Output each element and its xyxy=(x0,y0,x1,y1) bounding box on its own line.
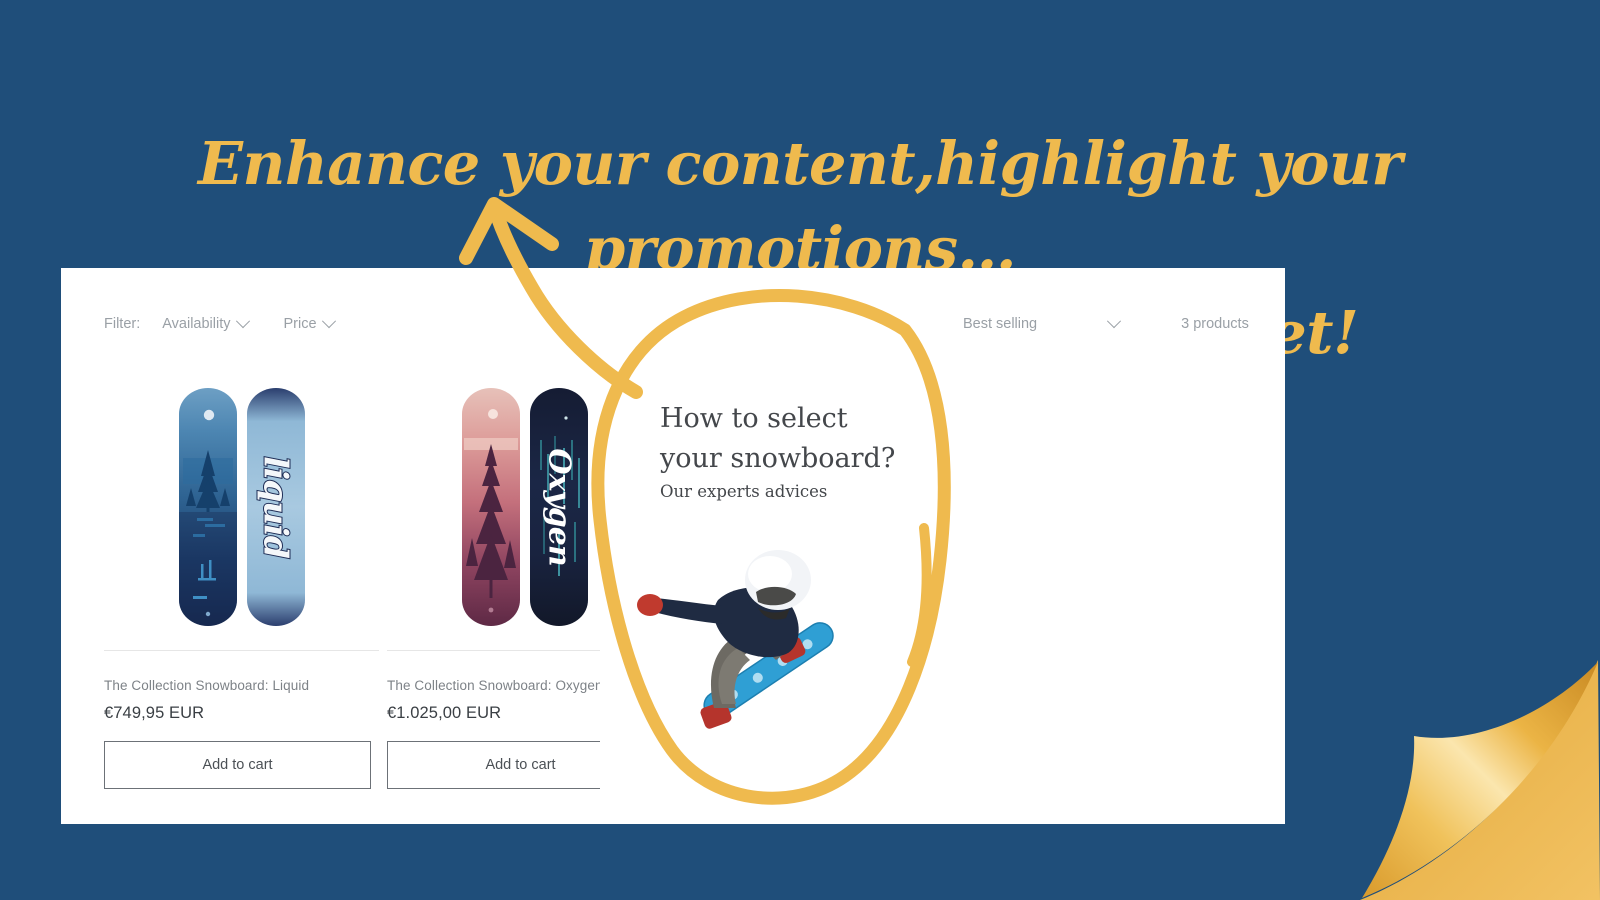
filter-availability-label: Availability xyxy=(162,316,230,332)
popup-heading: How to select your snowboard? xyxy=(660,399,940,479)
filter-price-label: Price xyxy=(284,316,317,332)
sort-by-select[interactable]: Best selling xyxy=(963,316,1119,332)
product-title[interactable]: The Collection Snowboard: Liquid xyxy=(104,678,379,693)
snowboard-art-logo-liquid: liquid xyxy=(247,388,305,626)
product-card-liquid: liquid The Collection Snowboard: Liquid … xyxy=(104,378,379,808)
chevron-down-icon xyxy=(321,314,335,328)
add-to-cart-button[interactable]: Add to cart xyxy=(104,741,371,789)
board-graphic xyxy=(462,388,520,626)
snowboard-wordmark-liquid: liquid xyxy=(256,456,295,558)
filter-group: Filter: Availability Price xyxy=(104,316,334,332)
popup-subheading: Our experts advices xyxy=(660,482,827,501)
headline-line-1: Enhance your content,highlight your prom… xyxy=(198,129,1402,282)
snowboarder-photo xyxy=(610,508,860,758)
product-count: 3 products xyxy=(1181,316,1249,332)
filter-availability-dropdown[interactable]: Availability xyxy=(162,316,247,332)
snowboard-art-nature-pink xyxy=(462,388,520,626)
product-image-liquid[interactable]: liquid xyxy=(104,378,379,651)
snowboard-art-nature-blue xyxy=(179,388,237,626)
product-price: €749,95 EUR xyxy=(104,704,379,723)
chevron-down-icon xyxy=(1107,314,1121,328)
chevron-down-icon xyxy=(235,314,249,328)
board-graphic xyxy=(179,388,237,626)
promo-popup[interactable]: How to select your snowboard? Our expert… xyxy=(600,268,950,824)
page-curl-decoration xyxy=(1340,640,1600,900)
snowboard-wordmark-oxygen: Oxygen xyxy=(541,448,576,565)
filter-label: Filter: xyxy=(104,316,140,332)
snowboard-art-logo-oxygen: Oxygen xyxy=(530,388,588,626)
sort-by-value: Best selling xyxy=(963,316,1037,332)
filter-price-dropdown[interactable]: Price xyxy=(284,316,334,332)
